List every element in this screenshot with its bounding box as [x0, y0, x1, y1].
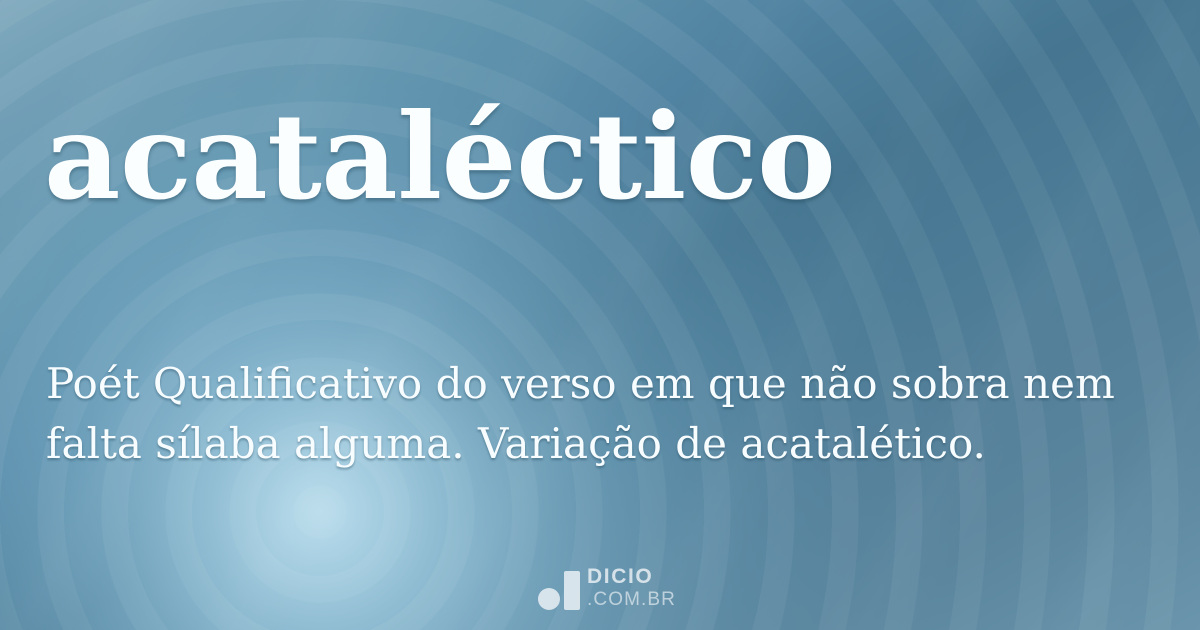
- logo-tld: .COM.BR: [587, 590, 676, 609]
- headword-title: acataléctico: [44, 87, 835, 226]
- logo-wordmark: DICIO .COM.BR: [587, 566, 676, 610]
- card-content: acataléctico Poét Qualificativo do verso…: [0, 0, 1200, 630]
- definition-text: Poét Qualificativo do verso em que não s…: [46, 354, 1168, 474]
- circle-icon: [538, 588, 560, 610]
- logo-name: DICIO: [587, 566, 676, 587]
- dicio-logo[interactable]: DICIO .COM.BR: [537, 564, 667, 610]
- dictionary-share-card: acataléctico Poét Qualificativo do verso…: [0, 0, 1200, 630]
- logo-mark: [537, 568, 581, 610]
- rounded-bar-icon: [564, 571, 580, 610]
